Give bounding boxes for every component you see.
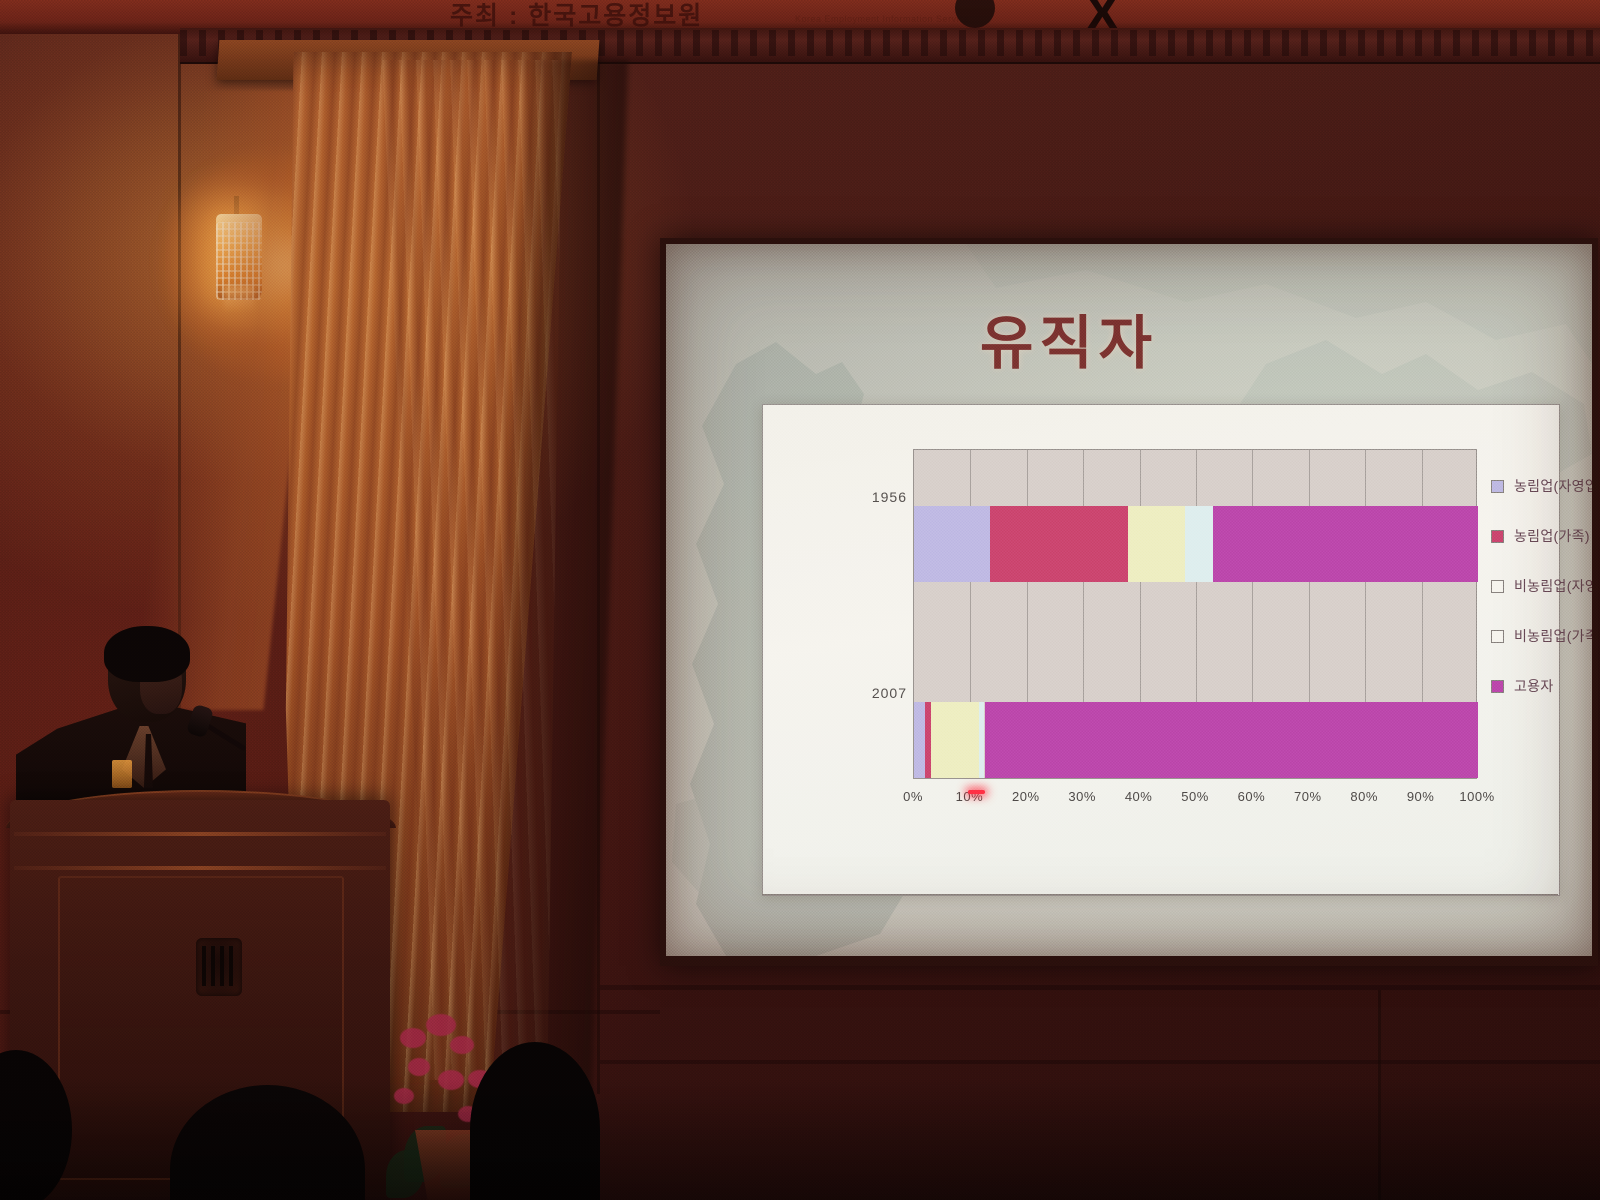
legend-item[interactable]: 비농림업(가족) bbox=[1491, 611, 1592, 661]
laser-pointer-dot bbox=[968, 790, 985, 794]
legend-swatch-icon bbox=[1491, 680, 1504, 693]
legend-item[interactable]: 비농림업(자영업주) bbox=[1491, 561, 1592, 611]
wall-seam bbox=[600, 985, 1600, 990]
bar-row-1956 bbox=[914, 506, 1478, 582]
bar-segment bbox=[914, 506, 990, 582]
x-axis-tick: 40% bbox=[1125, 789, 1153, 804]
bar-segment bbox=[985, 702, 1479, 778]
bar-segment bbox=[1128, 506, 1184, 582]
conference-room-scene: 주최 : 한국고용정보원 Korea Employment Informatio… bbox=[0, 0, 1600, 1200]
wall-seam bbox=[1378, 990, 1381, 1200]
projection-screen: 유직자 1956 2007 0%10%20%30%40%50%60%70%80%… bbox=[666, 244, 1592, 956]
legend-item[interactable]: 고용자 bbox=[1491, 661, 1592, 711]
y-axis-tick-1956: 1956 bbox=[855, 489, 907, 505]
presenter-name-badge bbox=[112, 760, 132, 788]
x-axis-tick: 50% bbox=[1181, 789, 1209, 804]
slide-title: 유직자 bbox=[666, 296, 1592, 380]
bar-segment bbox=[931, 702, 979, 778]
podium-trim bbox=[14, 866, 386, 870]
legend-item[interactable]: 농림업(가족) bbox=[1491, 511, 1592, 561]
x-axis: 0%10%20%30%40%50%60%70%80%90%100% bbox=[913, 789, 1477, 811]
x-axis-tick: 60% bbox=[1238, 789, 1266, 804]
legend-swatch-icon bbox=[1491, 580, 1504, 593]
x-axis-tick: 0% bbox=[903, 789, 923, 804]
legend-swatch-icon bbox=[1491, 630, 1504, 643]
legend-label: 비농림업(자영업주) bbox=[1514, 576, 1592, 596]
x-axis-tick: 30% bbox=[1068, 789, 1096, 804]
bar-segment bbox=[914, 702, 925, 778]
podium-trim bbox=[14, 832, 386, 836]
legend-item[interactable]: 농림업(자영업주) bbox=[1491, 461, 1592, 511]
legend-swatch-icon bbox=[1491, 530, 1504, 543]
legend-label: 비농림업(가족) bbox=[1514, 626, 1592, 646]
bar-segment bbox=[990, 506, 1128, 582]
legend-label: 고용자 bbox=[1514, 676, 1554, 696]
presenter-hair bbox=[104, 626, 190, 682]
chart-legend: 농림업(자영업주)농림업(가족)비농림업(자영업주)비농림업(가족)고용자 bbox=[1491, 461, 1592, 711]
x-axis-tick: 80% bbox=[1350, 789, 1378, 804]
legend-label: 농림업(자영업주) bbox=[1514, 476, 1592, 496]
podium-emblem-detail bbox=[202, 946, 236, 986]
legend-swatch-icon bbox=[1491, 480, 1504, 493]
chart-panel: 1956 2007 0%10%20%30%40%50%60%70%80%90%1… bbox=[762, 404, 1560, 896]
x-axis-tick: 70% bbox=[1294, 789, 1322, 804]
wall-seam bbox=[600, 1060, 1600, 1064]
x-axis-tick: 100% bbox=[1459, 789, 1494, 804]
x-axis-tick: 20% bbox=[1012, 789, 1040, 804]
x-axis-tick: 90% bbox=[1407, 789, 1435, 804]
bar-row-2007 bbox=[914, 702, 1478, 778]
panel-baseline-rule bbox=[762, 894, 1558, 895]
bar-segment bbox=[1185, 506, 1213, 582]
y-axis-tick-2007: 2007 bbox=[855, 685, 907, 701]
chart-plot-area bbox=[913, 449, 1477, 779]
legend-label: 농림업(가족) bbox=[1514, 526, 1590, 546]
bar-segment bbox=[1213, 506, 1478, 582]
